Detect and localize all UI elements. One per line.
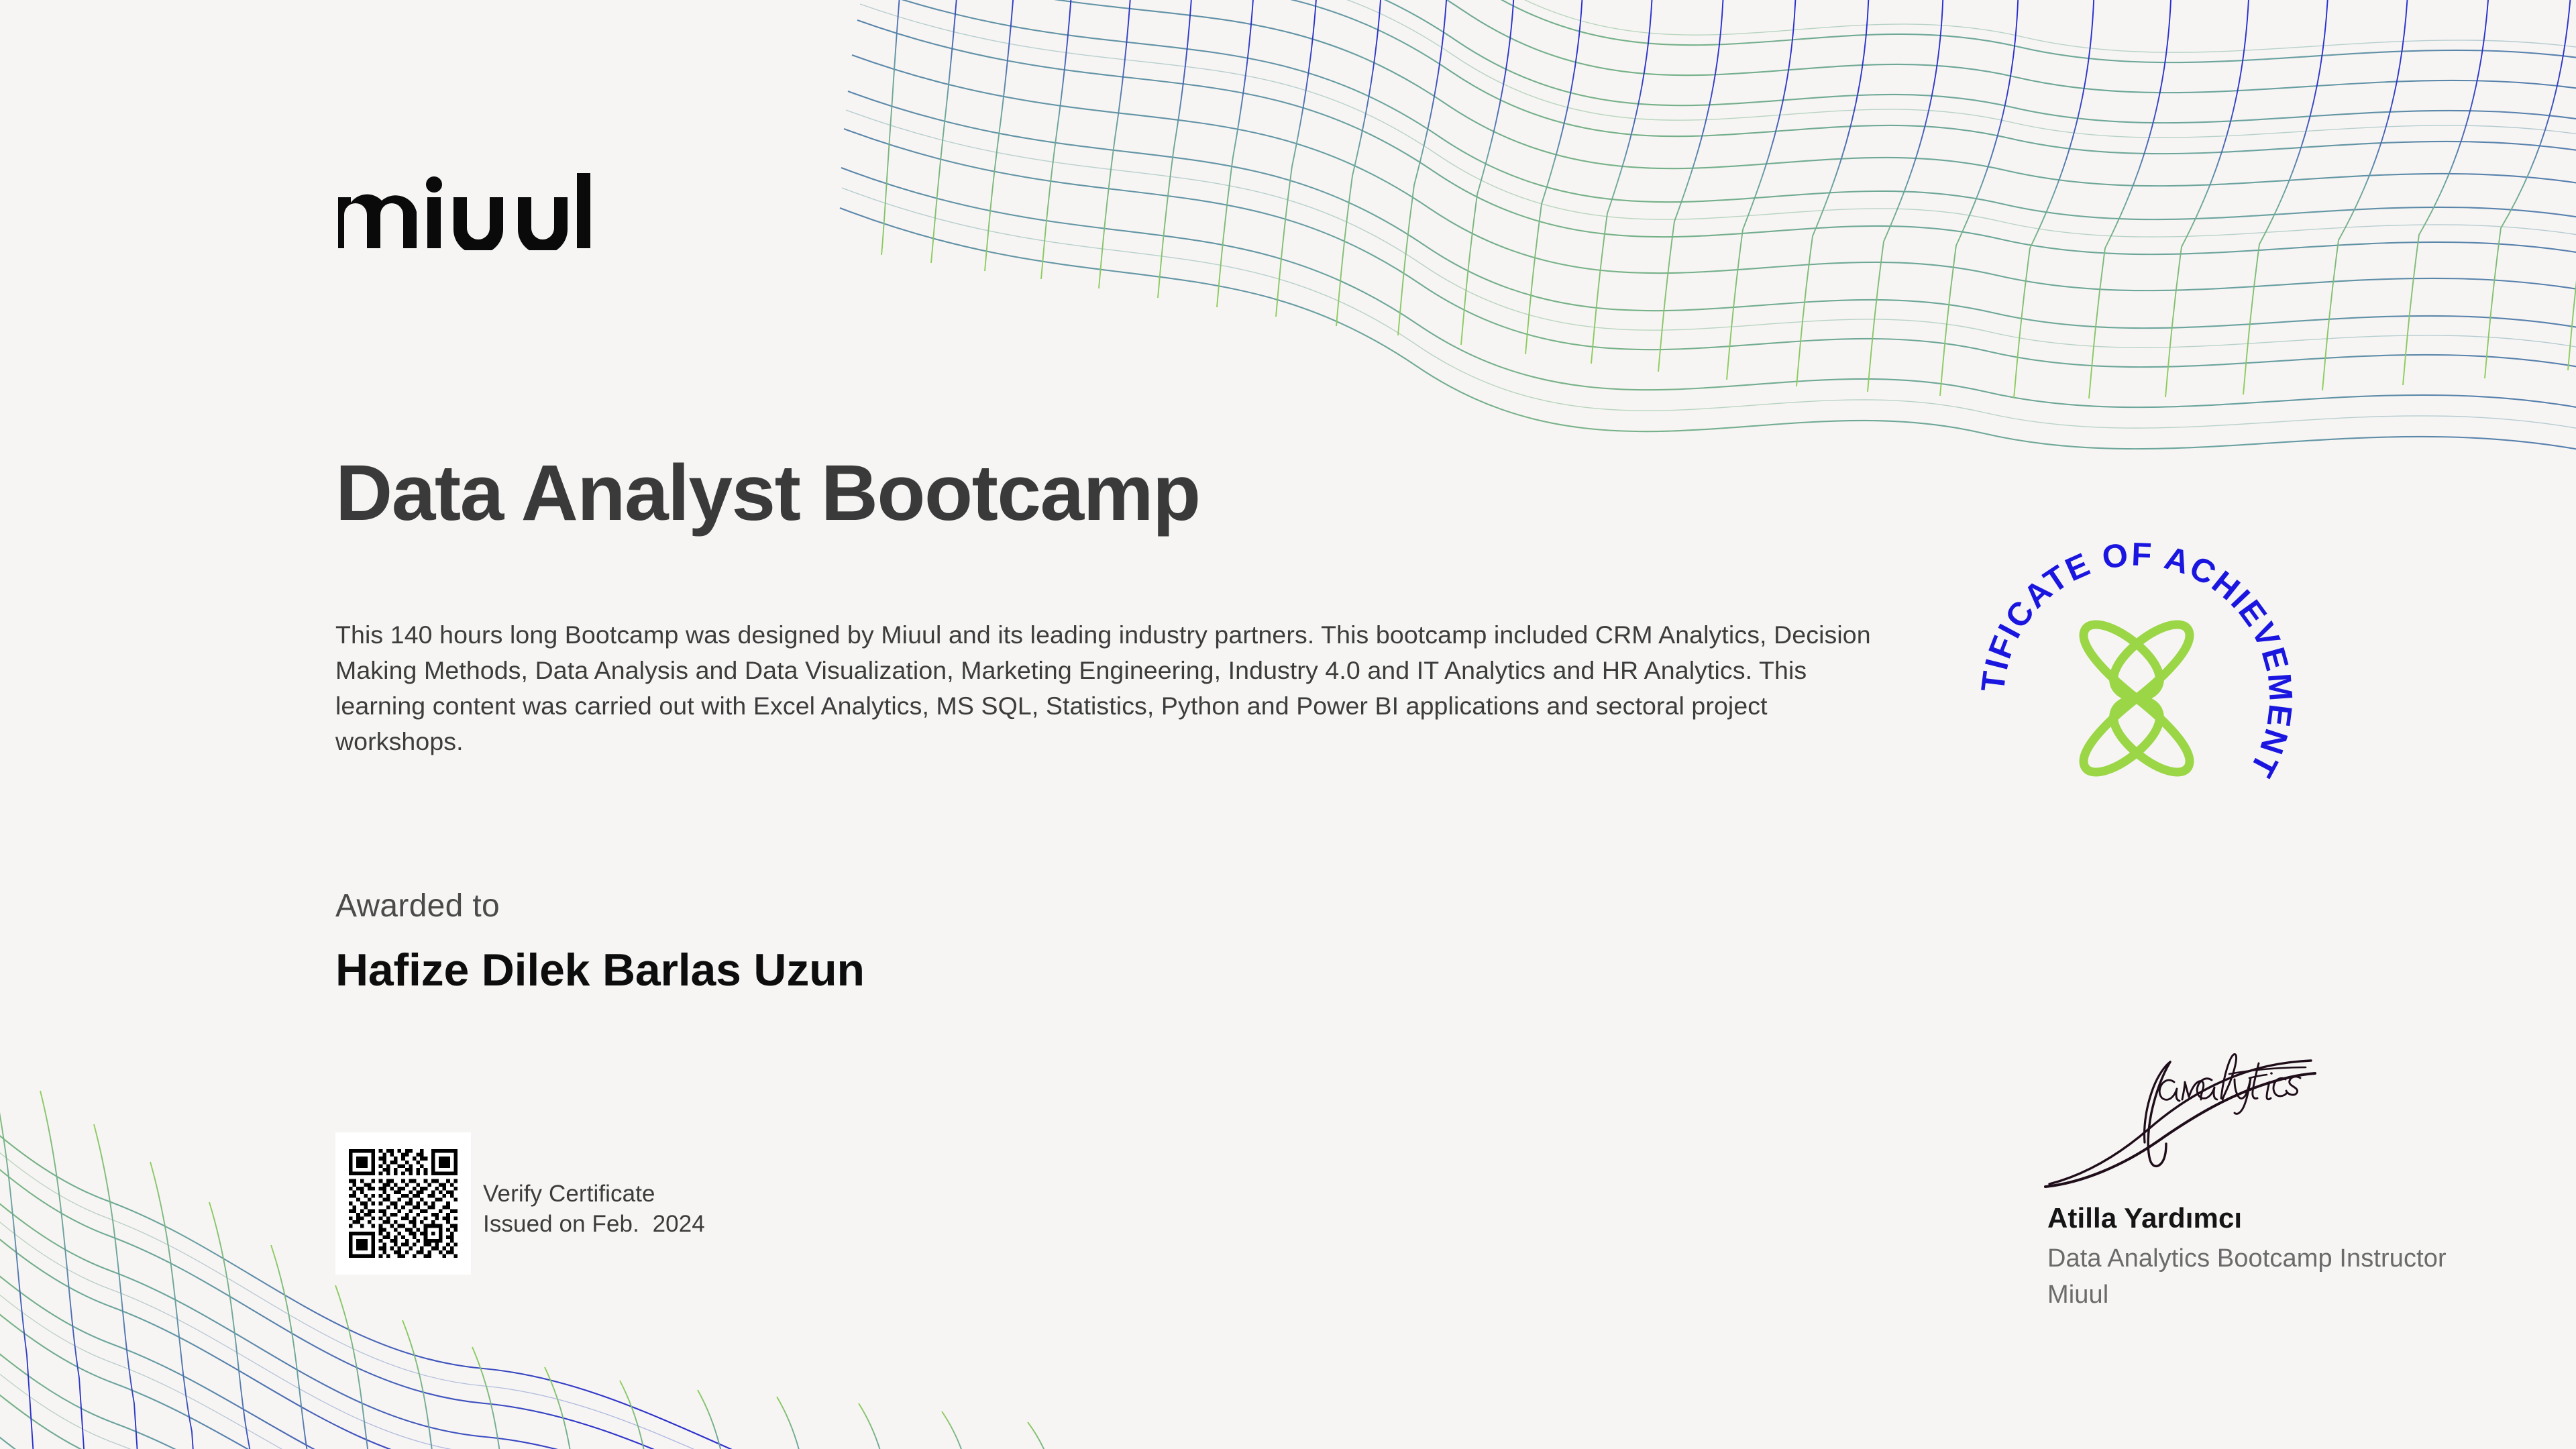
recipient-name: Hafize Dilek Barlas Uzun: [335, 944, 865, 996]
issued-label: Issued on Feb. 2024: [483, 1211, 705, 1237]
qr-code[interactable]: [335, 1132, 471, 1275]
certificate-of-achievement-badge: CERTIFICATE OF ACHIEVEMENT: [1966, 527, 2308, 869]
signer-name: Atilla Yardımcı: [2047, 1202, 2242, 1234]
signer-role-line1: Data Analytics Bootcamp Instructor: [2047, 1244, 2447, 1273]
certificate-description: This 140 hours long Bootcamp was designe…: [335, 617, 1892, 759]
awarded-to-label: Awarded to: [335, 888, 500, 924]
mesh-wave-top-right: [812, 0, 2576, 483]
verify-label: Verify Certificate: [483, 1181, 655, 1207]
verify-certificate-text: Verify Certificate Issued on Feb. 2024: [483, 1179, 705, 1239]
signer-organization: Miuul: [2047, 1281, 2108, 1309]
handwritten-signature: [2043, 1043, 2324, 1191]
signer-role: Data Analytics Bootcamp InstructorMiuul: [2047, 1240, 2447, 1313]
certificate-title: Data Analyst Bootcamp: [335, 453, 1200, 533]
miuul-logo: [335, 173, 590, 250]
certificate-page: Data Analyst Bootcamp This 140 hours lon…: [0, 0, 2576, 1449]
